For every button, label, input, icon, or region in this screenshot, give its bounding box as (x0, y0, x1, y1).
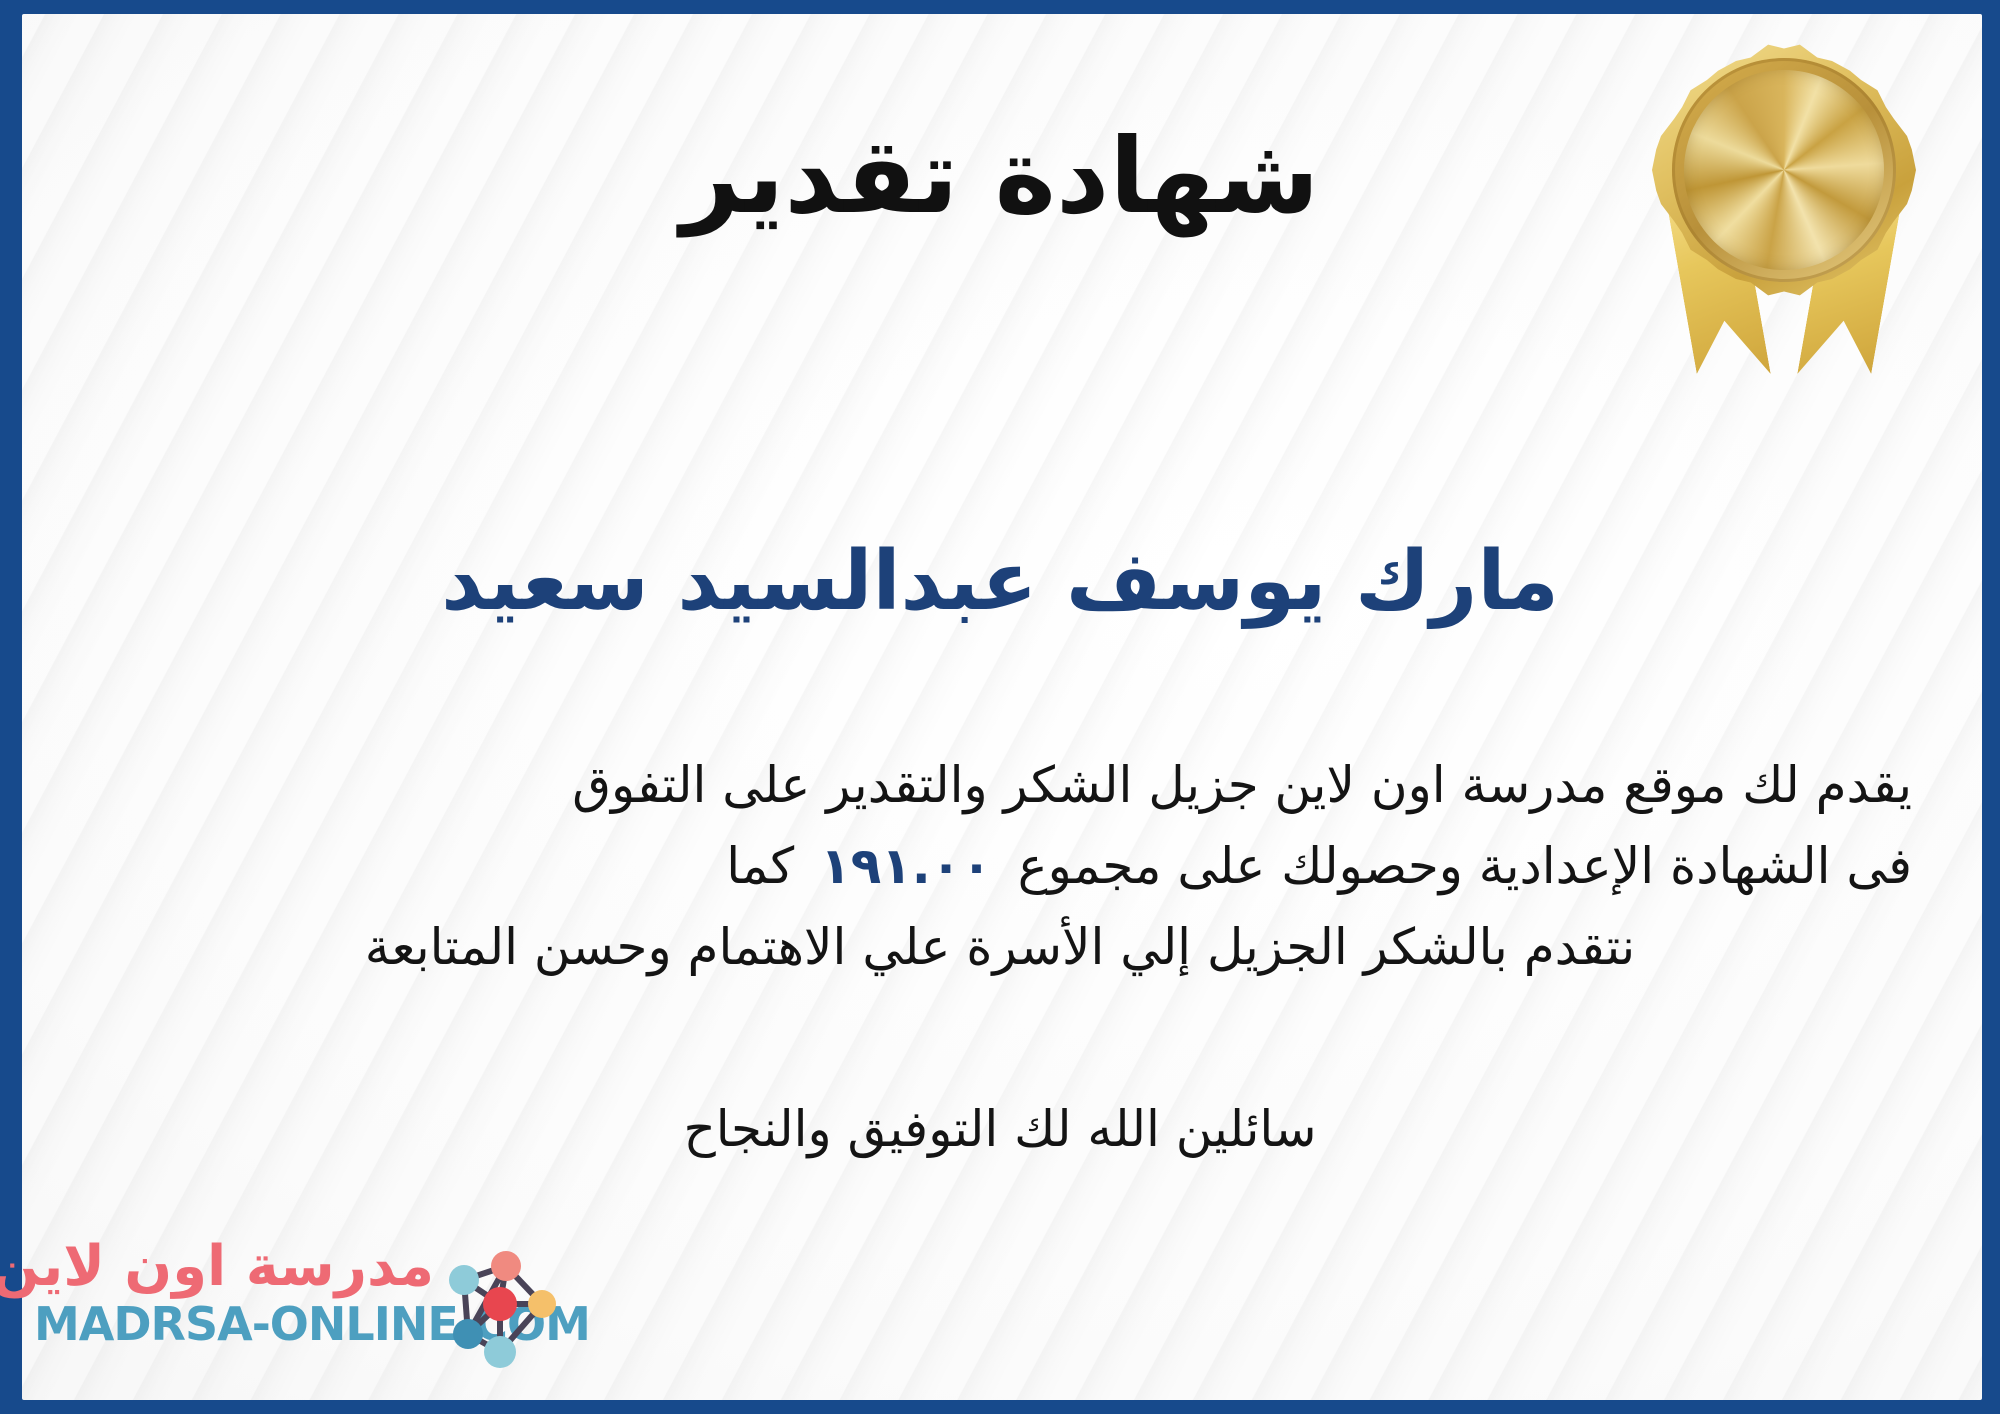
node-light-blue (449, 1265, 479, 1295)
node-red (483, 1287, 517, 1321)
brand-domain: MADRSA-ONLINE.COM (34, 1299, 434, 1351)
node-orange (528, 1290, 556, 1318)
node-cyan (484, 1336, 516, 1368)
total-score-value: ١٩١.٠٠ (794, 826, 1018, 907)
body-line-3: نتقدم بالشكر الجزيل إلي الأسرة علي الاهت… (60, 907, 1940, 988)
closing-wishes-line: سائلين الله لك التوفيق والنجاح (0, 1100, 2000, 1158)
brand-logo[interactable]: مدرسة اون لاين MADRSA-ONLINE.COM (34, 1236, 534, 1386)
node-blue (453, 1319, 483, 1349)
certificate-title: شهادة تقدير (0, 120, 2000, 232)
certificate-content: شهادة تقدير مارك يوسف عبدالسيد سعيد يقدم… (0, 0, 2000, 1414)
recipient-name: مارك يوسف عبدالسيد سعيد (0, 535, 2000, 629)
node-coral (491, 1251, 521, 1281)
certificate-body-text: يقدم لك موقع مدرسة اون لاين جزيل الشكر و… (60, 745, 1940, 988)
brand-logo-text: مدرسة اون لاين MADRSA-ONLINE.COM (34, 1236, 434, 1350)
certificate-canvas: شهادة تقدير مارك يوسف عبدالسيد سعيد يقدم… (0, 0, 2000, 1414)
brand-name-arabic: مدرسة اون لاين (34, 1236, 434, 1299)
body-line-2: فى الشهادة الإعدادية وحصولك على مجموع١٩١… (60, 826, 1940, 907)
body-line-1: يقدم لك موقع مدرسة اون لاين جزيل الشكر و… (60, 745, 1940, 826)
body-line-2-suffix: كما (726, 837, 794, 895)
body-line-2-prefix: فى الشهادة الإعدادية وحصولك على مجموع (1018, 837, 1912, 895)
network-nodes-icon (438, 1242, 558, 1370)
